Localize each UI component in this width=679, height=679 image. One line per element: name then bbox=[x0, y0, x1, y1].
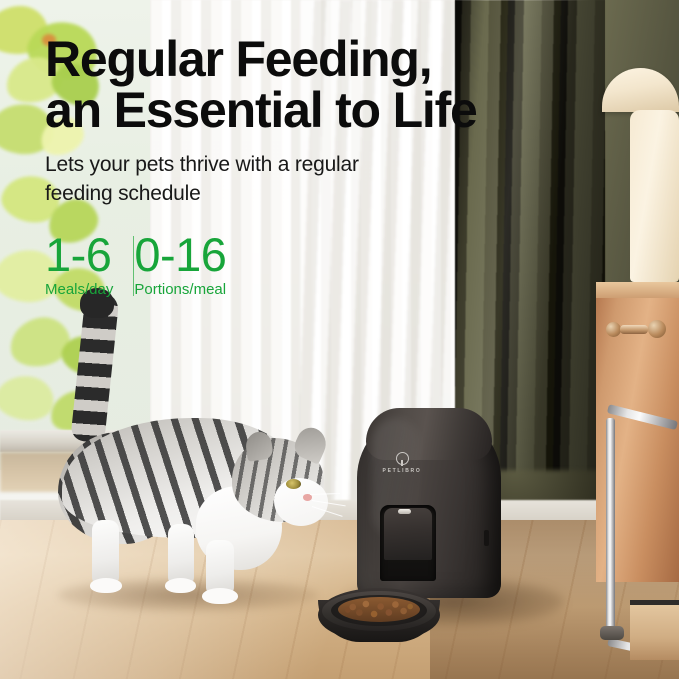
status-led-icon bbox=[398, 509, 411, 514]
stat-value: 0-16 bbox=[134, 230, 226, 280]
feeder-chute-door[interactable] bbox=[384, 508, 432, 560]
headline-line-1: Regular Feeding, bbox=[45, 34, 575, 85]
stat-meals-per-day: 1-6 Meals/day bbox=[45, 230, 133, 300]
cat-nose bbox=[303, 494, 312, 501]
chrome-rod-foot bbox=[600, 626, 624, 640]
subheadline-line-1: Lets your pets thrive with a regular bbox=[45, 150, 435, 179]
low-shelf-unit bbox=[630, 600, 679, 660]
stat-portions-per-meal: 0-16 Portions/meal bbox=[134, 230, 246, 300]
cabinet-knob-right[interactable] bbox=[648, 320, 666, 338]
cat-hind-paw bbox=[90, 578, 122, 593]
cat-eye bbox=[286, 479, 301, 489]
brand-logo: PETLIBRO bbox=[372, 452, 432, 482]
cat-mid-leg bbox=[168, 524, 194, 586]
brand-name: PETLIBRO bbox=[372, 468, 432, 474]
subheadline-line-2: feeding schedule bbox=[45, 179, 435, 208]
cat-hind-leg bbox=[92, 520, 119, 586]
cabinet-handle[interactable] bbox=[620, 325, 648, 334]
dome-table-lamp-base bbox=[630, 110, 679, 282]
stat-label: Meals/day bbox=[45, 280, 113, 300]
stat-label: Portions/meal bbox=[134, 280, 226, 300]
cat-mid-paw bbox=[165, 578, 196, 593]
wood-cabinet-top bbox=[596, 282, 679, 298]
cat-front-paw bbox=[202, 588, 238, 604]
subheadline: Lets your pets thrive with a regular fee… bbox=[45, 150, 435, 208]
headline-line-2: an Essential to Life bbox=[45, 85, 575, 136]
marketing-copy: Regular Feeding, an Essential to Life Le… bbox=[45, 34, 575, 300]
product-lifestyle-image: PETLIBRO Regular Feeding, an Essential t… bbox=[0, 0, 679, 679]
paw-circle-icon bbox=[396, 452, 409, 465]
stat-value: 1-6 bbox=[45, 230, 113, 280]
kibble-food bbox=[338, 597, 420, 622]
stats-divider bbox=[133, 236, 134, 296]
headline: Regular Feeding, an Essential to Life bbox=[45, 34, 575, 136]
cabinet-knob-left[interactable] bbox=[606, 322, 621, 337]
chrome-rod-vertical bbox=[606, 418, 615, 632]
stats-row: 1-6 Meals/day 0-16 Portions/meal bbox=[45, 230, 575, 300]
feeder-side-port bbox=[484, 530, 489, 546]
